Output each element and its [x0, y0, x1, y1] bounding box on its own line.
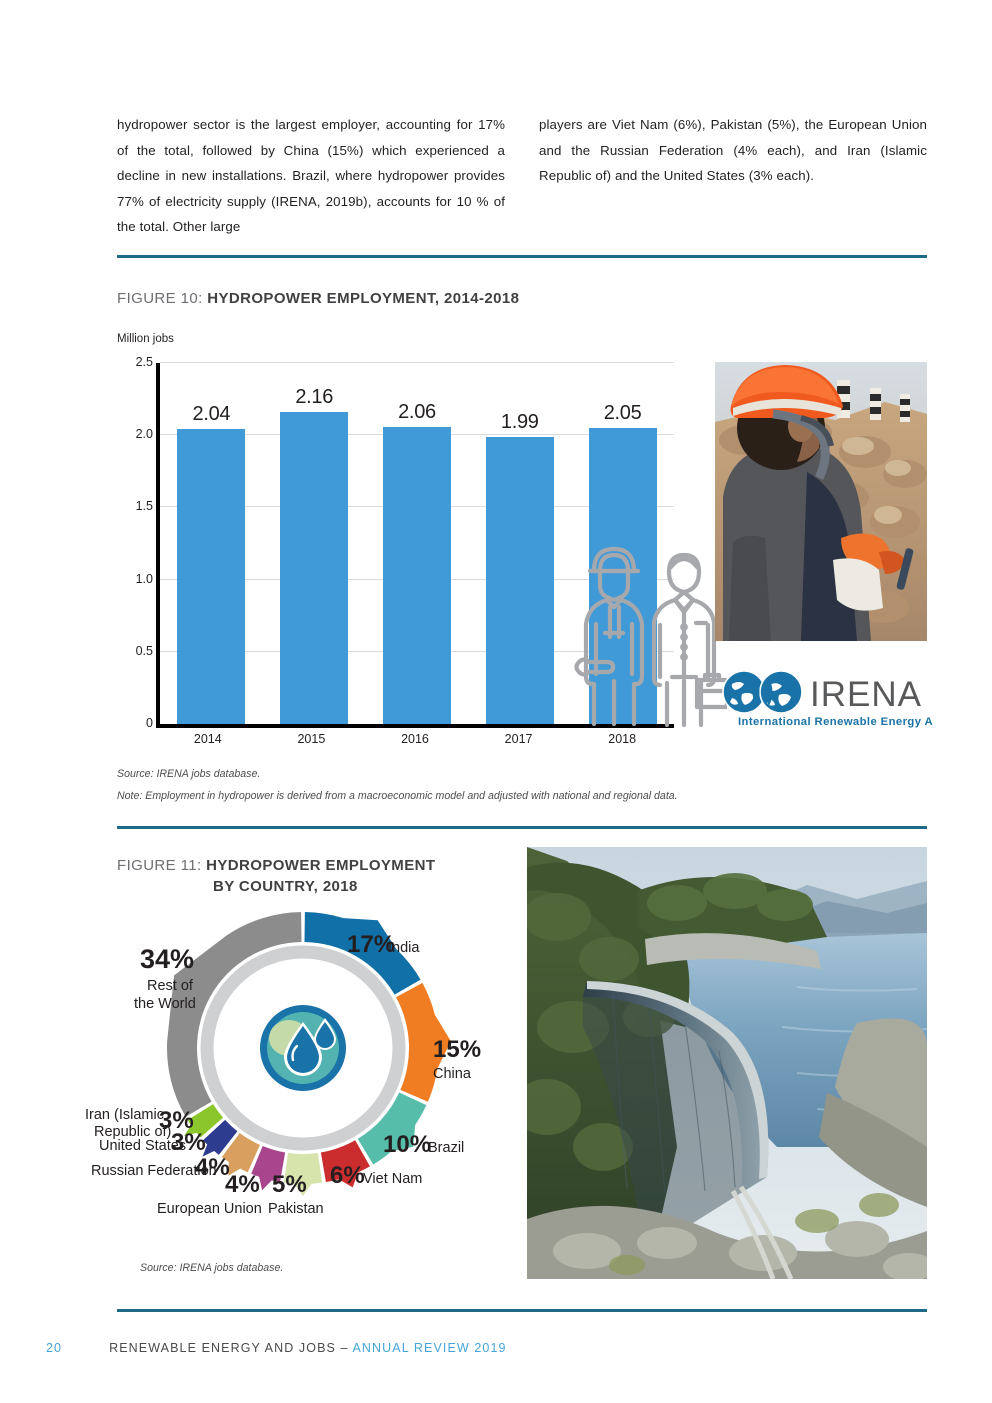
- bar-column-2015: 2.16: [280, 363, 348, 724]
- bar-series: 2.04 2.16 2.06 1.99 2.05: [160, 363, 674, 724]
- slice-value-viet-nam: 6%: [330, 1162, 365, 1189]
- xtick-2018: 2018: [588, 732, 656, 746]
- bar-value-2015: 2.16: [280, 386, 348, 409]
- figure-11-label: FIGURE 11:: [117, 857, 206, 874]
- xtick-2016: 2016: [381, 732, 449, 746]
- figure-11-title-line2: BY COUNTRY, 2018: [117, 876, 517, 897]
- slice-label-iran-line1: Iran (Islamic: [85, 1107, 164, 1123]
- bar-2017[interactable]: [486, 437, 554, 724]
- slice-value-rest-of-world: 34%: [140, 944, 194, 974]
- divider-rule-middle: [117, 826, 927, 829]
- document-page: hydropower sector is the largest employe…: [0, 0, 992, 1403]
- slice-label-united-states: United States: [99, 1138, 186, 1154]
- ytick-label-1.0: 1.0: [136, 572, 153, 586]
- divider-rule-top: [117, 255, 927, 258]
- footer-title: RENEWABLE ENERGY AND JOBS –: [109, 1341, 352, 1355]
- slice-value-brazil: 10%: [383, 1131, 431, 1158]
- ytick-label-1.5: 1.5: [136, 499, 153, 513]
- figure-10-caption: FIGURE 10: HYDROPOWER EMPLOYMENT, 2014-2…: [117, 288, 519, 309]
- bar-value-2016: 2.06: [383, 401, 451, 424]
- hydropower-employment-bar-chart: 2.5 2.0 1.5 1.0 0.5 0 2.04: [117, 363, 674, 728]
- body-paragraph-left: hydropower sector is the largest employe…: [117, 112, 505, 240]
- figure-10-title: HYDROPOWER EMPLOYMENT, 2014-2018: [207, 290, 519, 307]
- footer-subtitle: ANNUAL REVIEW 2019: [352, 1341, 506, 1355]
- ytick-label-2.5: 2.5: [136, 355, 153, 369]
- bar-2016[interactable]: [383, 427, 451, 724]
- figure-11-title-line1: HYDROPOWER EMPLOYMENT: [206, 857, 435, 874]
- body-column-left: hydropower sector is the largest employe…: [117, 112, 505, 240]
- xtick-2015: 2015: [277, 732, 345, 746]
- body-columns: hydropower sector is the largest employe…: [117, 112, 927, 240]
- water-droplet-icon: [260, 1005, 346, 1091]
- page-footer: 20RENEWABLE ENERGY AND JOBS – ANNUAL REV…: [46, 1341, 507, 1355]
- slice-value-china: 15%: [433, 1036, 481, 1063]
- slice-value-european-union: 4%: [225, 1171, 260, 1198]
- ytick-label-0: 0: [146, 716, 153, 730]
- figure-10-source: Source: IRENA jobs database.: [117, 768, 260, 780]
- hydropower-worker-photo: [715, 362, 927, 641]
- bar-2015[interactable]: [280, 412, 348, 724]
- slice-label-pakistan: Pakistan: [268, 1201, 324, 1217]
- slice-label-brazil: Brazil: [428, 1140, 464, 1156]
- xtick-2014: 2014: [174, 732, 242, 746]
- irena-wordmark: IRENA: [810, 675, 922, 714]
- bar-column-2017: 1.99: [486, 363, 554, 724]
- bar-value-2014: 2.04: [177, 403, 245, 426]
- slice-label-china: China: [433, 1066, 472, 1082]
- slice-label-russian-federation: Russian Federation: [91, 1163, 217, 1179]
- slice-label-iran-line2: Republic of): [94, 1124, 171, 1140]
- figure-11-caption: FIGURE 11: HYDROPOWER EMPLOYMENT BY COUN…: [117, 855, 517, 897]
- ytick-label-2.0: 2.0: [136, 427, 153, 441]
- figure-10-note: Note: Employment in hydropower is derive…: [117, 790, 678, 802]
- xtick-2017: 2017: [485, 732, 553, 746]
- bar-2014[interactable]: [177, 429, 245, 724]
- irena-globes-icon: [723, 671, 802, 713]
- slice-label-rest-of-world-line2: the World: [134, 996, 196, 1012]
- slice-label-european-union: European Union: [157, 1201, 262, 1217]
- irena-tagline: International Renewable Energy Agency: [738, 716, 933, 728]
- bar-value-2018: 2.05: [589, 402, 657, 425]
- page-number: 20: [46, 1341, 62, 1355]
- bar-2018[interactable]: [589, 428, 657, 724]
- slice-label-rest-of-world-line1: Rest of: [147, 978, 194, 994]
- figure-10-label: FIGURE 10:: [117, 290, 207, 307]
- body-paragraph-right: players are Viet Nam (6%), Pakistan (5%)…: [539, 112, 927, 189]
- x-axis-labels: 2014 2015 2016 2017 2018: [156, 732, 674, 746]
- bar-column-2018: 2.05: [589, 363, 657, 724]
- hydropower-dam-photo: [527, 847, 927, 1279]
- bar-chart-plot-area: 2.5 2.0 1.5 1.0 0.5 0 2.04: [156, 363, 674, 728]
- hydropower-by-country-donut-chart: 17% India 15% China 10% Brazil 6% Viet N…: [85, 900, 525, 1260]
- slice-label-india: India: [388, 940, 420, 956]
- body-column-right: players are Viet Nam (6%), Pakistan (5%)…: [539, 112, 927, 240]
- y-axis-title: Million jobs: [117, 333, 174, 345]
- divider-rule-bottom: [117, 1309, 927, 1312]
- bar-column-2016: 2.06: [383, 363, 451, 724]
- bar-value-2017: 1.99: [486, 411, 554, 434]
- slice-value-pakistan: 5%: [272, 1171, 307, 1198]
- slice-label-viet-nam: Viet Nam: [363, 1171, 422, 1187]
- ytick-label-0.5: 0.5: [136, 644, 153, 658]
- irena-logo: IRENA International Renewable Energy Age…: [718, 668, 933, 730]
- bar-column-2014: 2.04: [177, 363, 245, 724]
- figure-11-source: Source: IRENA jobs database.: [140, 1262, 283, 1274]
